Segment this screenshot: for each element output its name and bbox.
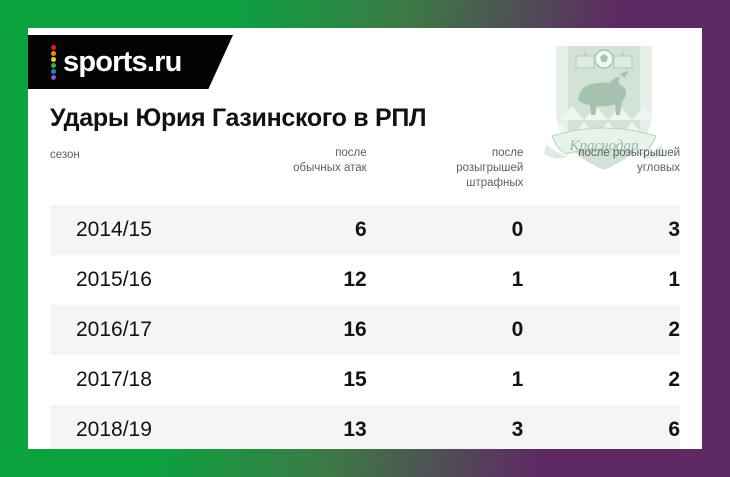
sports-ru-logo[interactable]: sports.ru: [28, 35, 233, 89]
table-header-row: сезон после обычных атак после розыгрыше…: [50, 146, 680, 205]
logo-dot-green: [51, 63, 56, 68]
table-row: 2017/18 15 1 2: [50, 355, 680, 405]
logo-dot-blue: [51, 69, 56, 74]
cell-open-play: 15: [250, 368, 407, 392]
column-header-open-play: после обычных атак: [250, 146, 407, 176]
cell-open-play: 16: [250, 318, 407, 342]
cell-season: 2017/18: [50, 368, 250, 392]
stats-table: сезон после обычных атак после розыгрыше…: [50, 146, 680, 449]
cell-corners: 2: [563, 318, 680, 342]
cell-season: 2014/15: [50, 218, 250, 242]
cell-free-kicks: 3: [407, 418, 564, 442]
cell-season: 2016/17: [50, 318, 250, 342]
table-row: 2015/16 12 1 1: [50, 255, 680, 305]
logo-dots-icon: [51, 45, 56, 80]
page-title: Удары Юрия Газинского в РПЛ: [50, 104, 426, 133]
cell-free-kicks: 0: [407, 218, 564, 242]
logo-dot-purple: [51, 75, 56, 80]
logo-dot-orange: [51, 51, 56, 56]
column-header-free-kicks: после розыгрышей штрафных: [407, 146, 564, 191]
cell-season: 2018/19: [50, 418, 250, 442]
cell-corners: 2: [563, 368, 680, 392]
logo-wordmark: sports.ru: [63, 48, 182, 77]
infographic-card: sports.ru: [0, 0, 730, 477]
column-header-corners: после розыгрышей угловых: [563, 146, 680, 176]
cell-corners: 3: [563, 218, 680, 242]
cell-open-play: 13: [250, 418, 407, 442]
cell-free-kicks: 1: [407, 268, 564, 292]
logo-dot-yellow: [51, 57, 56, 62]
cell-free-kicks: 1: [407, 368, 564, 392]
column-header-season: сезон: [50, 146, 250, 163]
cell-open-play: 12: [250, 268, 407, 292]
cell-corners: 1: [563, 268, 680, 292]
table-row: 2016/17 16 0 2: [50, 305, 680, 355]
cell-open-play: 6: [250, 218, 407, 242]
cell-season: 2015/16: [50, 268, 250, 292]
cell-free-kicks: 0: [407, 318, 564, 342]
logo-dot-red: [51, 45, 56, 50]
table-row: 2018/19 13 3 6: [50, 405, 680, 449]
table-row: 2014/15 6 0 3: [50, 205, 680, 255]
content-card: sports.ru: [28, 28, 702, 449]
cell-corners: 6: [563, 418, 680, 442]
